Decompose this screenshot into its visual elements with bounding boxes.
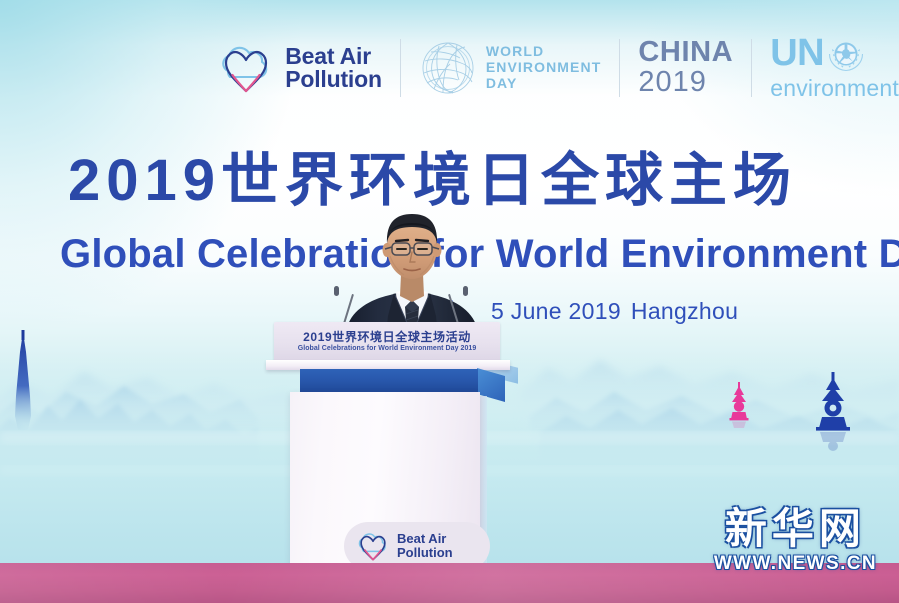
wed-globe-icon — [419, 39, 477, 97]
microphone-head-left — [334, 286, 339, 296]
podium-blue-band — [300, 369, 478, 393]
three-pools-pagoda-blue — [812, 372, 854, 452]
wed-line1: WORLD — [486, 44, 602, 60]
watermark-chinese: 新华网 — [714, 508, 877, 550]
logo-beat-air-pollution: Beat Air Pollution — [200, 36, 400, 100]
heart-cloud-icon — [356, 530, 390, 562]
logo-wed-text: WORLD ENVIRONMENT DAY — [486, 44, 602, 91]
podium-logo-line1: Beat Air — [397, 532, 453, 546]
press-photo-scene: Beat Air Pollution — [0, 0, 899, 603]
leifeng-pagoda-silhouette — [6, 330, 40, 440]
wed-line3: DAY — [486, 76, 602, 92]
podium-sign-plate: 2019世界环境日全球主场活动 Global Celebrations for … — [274, 322, 500, 362]
podium-sign-chinese: 2019世界环境日全球主场活动 — [303, 328, 471, 345]
podium-body: Beat Air Pollution — [290, 392, 480, 582]
event-city: Hangzhou — [631, 298, 738, 324]
un-emblem-icon — [826, 35, 866, 75]
microphone-head-right — [463, 286, 468, 296]
logo-un-environment: UN — [752, 36, 899, 100]
logo-beat-air-pollution-text: Beat Air Pollution — [285, 45, 382, 92]
china-line1: CHINA — [638, 38, 733, 68]
podium-logo-text: Beat Air Pollution — [397, 532, 453, 559]
bap-line2: Pollution — [285, 68, 382, 91]
podium-sign-english: Global Celebrations for World Environmen… — [298, 345, 477, 352]
podium-logo-line2: Pollution — [397, 546, 453, 560]
watermark-url: WWW.NEWS.CN — [714, 554, 877, 573]
un-wordmark: UN — [770, 37, 824, 70]
logo-world-environment-day: WORLD ENVIRONMENT DAY — [401, 36, 620, 100]
un-environment-word: environment — [770, 77, 899, 100]
sponsor-logo-bar: Beat Air Pollution — [0, 18, 899, 118]
heart-cloud-icon — [218, 41, 274, 95]
wed-line2: ENVIRONMENT — [486, 60, 602, 76]
bap-line1: Beat Air — [285, 45, 382, 68]
xinhua-watermark: 新华网 WWW.NEWS.CN — [714, 508, 877, 573]
podium: 2019世界环境日全球主场活动 Global Celebrations for … — [258, 322, 518, 582]
china-line2: 2019 — [638, 68, 733, 98]
three-pools-pagoda-pink — [727, 382, 751, 430]
logo-china-2019: CHINA 2019 — [620, 36, 751, 100]
